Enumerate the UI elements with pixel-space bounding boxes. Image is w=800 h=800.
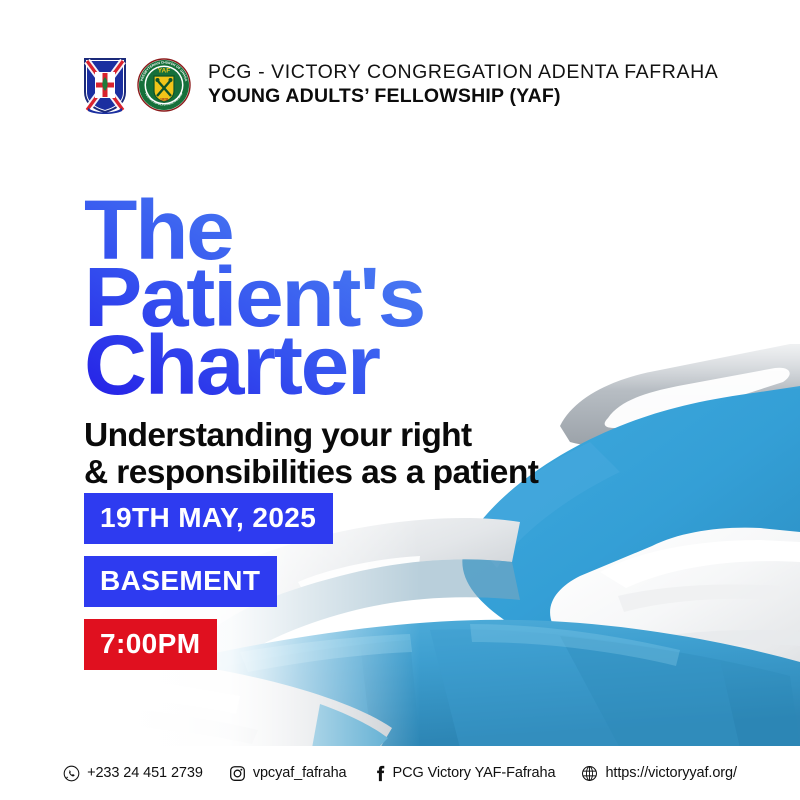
contact-instagram[interactable]: vpcyaf_fafraha: [229, 765, 347, 782]
svg-text:YAF: YAF: [158, 68, 170, 75]
globe-icon: [581, 765, 598, 782]
event-details: 19TH MAY, 2025 BASEMENT 7:00PM: [84, 493, 333, 670]
facebook-icon: [373, 765, 386, 782]
instagram-handle: vpcyaf_fafraha: [253, 765, 347, 781]
svg-text:1828: 1828: [160, 98, 168, 102]
poster-canvas: YAF 1828 PRESBYTERIAN CHURCH OF GHANA YO…: [0, 0, 800, 800]
time-badge-row: 7:00PM: [84, 619, 333, 670]
facebook-page: PCG Victory YAF-Fafraha: [393, 765, 556, 781]
contact-whatsapp[interactable]: +233 24 451 2739: [63, 765, 203, 782]
event-date-badge: 19TH MAY, 2025: [84, 493, 333, 544]
venue-badge-row: BASEMENT: [84, 556, 333, 619]
fellowship-name: YOUNG ADULTS’ FELLOWSHIP (YAF): [208, 86, 718, 108]
page-title: The Patient's Charter: [84, 197, 424, 399]
yaf-seal-logo: YAF 1828 PRESBYTERIAN CHURCH OF GHANA YO…: [137, 57, 191, 113]
event-time-badge: 7:00PM: [84, 619, 217, 670]
pcg-crest-logo: [82, 56, 128, 114]
contact-facebook[interactable]: PCG Victory YAF-Fafraha: [373, 765, 556, 782]
page-subtitle: Understanding your right & responsibilit…: [84, 418, 538, 492]
contact-footer: +233 24 451 2739 vpcyaf_fafraha PCG Vict…: [0, 746, 800, 800]
event-venue-badge: BASEMENT: [84, 556, 277, 607]
whatsapp-icon: [63, 765, 80, 782]
date-badge-row: 19TH MAY, 2025: [84, 493, 333, 556]
instagram-icon: [229, 765, 246, 782]
website-url: https://victoryyaf.org/: [605, 765, 736, 781]
whatsapp-number: +233 24 451 2739: [87, 765, 203, 781]
organisation-name: PCG - VICTORY CONGREGATION ADENTA FAFRAH…: [208, 62, 718, 84]
contact-website[interactable]: https://victoryyaf.org/: [581, 765, 736, 782]
poster-header: YAF 1828 PRESBYTERIAN CHURCH OF GHANA YO…: [82, 56, 718, 114]
